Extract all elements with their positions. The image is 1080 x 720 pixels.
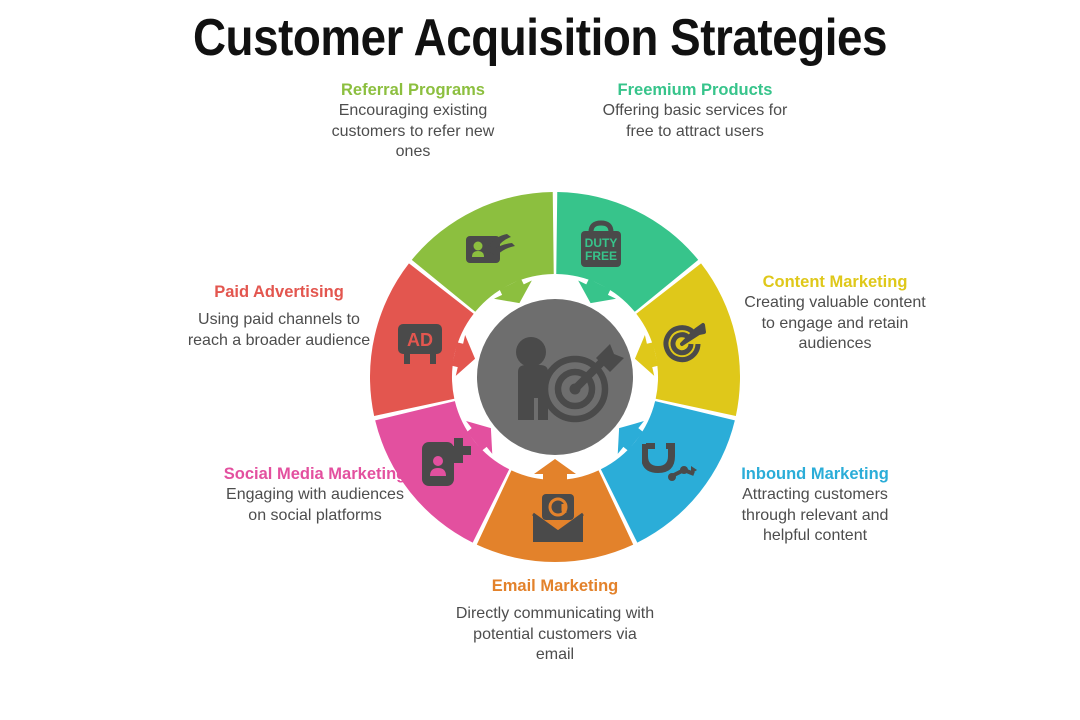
label-inbound-marketing: Inbound Marketing Attracting customers t…: [722, 464, 908, 547]
label-desc: Attracting customers through relevant an…: [722, 485, 908, 547]
label-desc: Encouraging existing customers to refer …: [322, 101, 504, 163]
wheel-svg: [370, 192, 740, 562]
label-title: Email Marketing: [452, 576, 658, 596]
label-title: Referral Programs: [322, 80, 504, 100]
label-desc: Creating valuable content to engage and …: [742, 293, 928, 355]
label-social-media-marketing: Social Media Marketing Engaging with aud…: [222, 464, 408, 526]
label-desc: Using paid channels to reach a broader a…: [186, 310, 372, 351]
spoke-email: [534, 459, 576, 480]
page-title: Customer Acquisition Strategies: [65, 8, 1015, 68]
label-desc: Engaging with audiences on social platfo…: [222, 485, 408, 526]
strategy-wheel: DUTY FREE AD: [370, 192, 740, 562]
label-content-marketing: Content Marketing Creating valuable cont…: [742, 272, 928, 355]
label-title: Freemium Products: [602, 80, 788, 100]
label-email-marketing: Email Marketing Directly communicating w…: [452, 576, 658, 666]
label-desc: Directly communicating with potential cu…: [452, 604, 658, 666]
label-title: Social Media Marketing: [222, 464, 408, 484]
label-paid-advertising: Paid Advertising Using paid channels to …: [186, 282, 372, 351]
label-referral-programs: Referral Programs Encouraging existing c…: [322, 80, 504, 163]
label-desc: Offering basic services for free to attr…: [602, 101, 788, 142]
label-title: Inbound Marketing: [722, 464, 908, 484]
center-hub-circle: [477, 299, 633, 455]
label-freemium-products: Freemium Products Offering basic service…: [602, 80, 788, 142]
label-title: Content Marketing: [742, 272, 928, 292]
label-title: Paid Advertising: [186, 282, 372, 302]
